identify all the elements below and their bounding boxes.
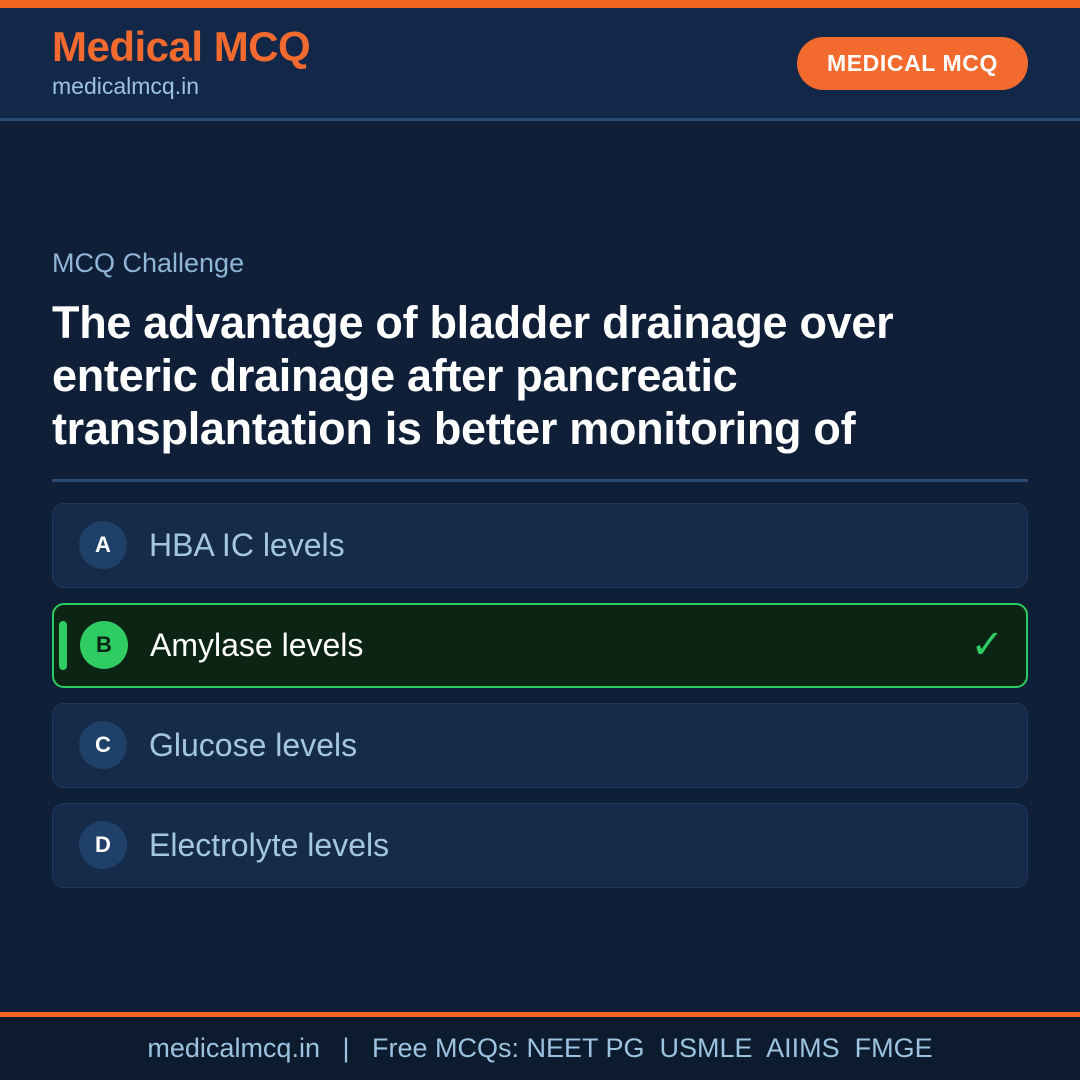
main-content: MCQ Challenge The advantage of bladder d… (0, 121, 1080, 1012)
option-b-letter: B (80, 621, 128, 669)
option-c-label: Glucose levels (149, 729, 357, 761)
page-footer: medicalmcq.in | Free MCQs: NEET PG USMLE… (0, 1012, 1080, 1080)
header-badge: MEDICAL MCQ (797, 37, 1028, 90)
option-a-label: HBA IC levels (149, 529, 345, 561)
question-divider (52, 479, 1028, 482)
option-c[interactable]: C Glucose levels ✓ (52, 703, 1028, 788)
option-d[interactable]: D Electrolyte levels ✓ (52, 803, 1028, 888)
question-text: The advantage of bladder drainage over e… (52, 296, 992, 455)
top-accent-bar (0, 0, 1080, 8)
brand-title: Medical MCQ (52, 25, 310, 69)
option-b-label: Amylase levels (150, 629, 363, 661)
option-b[interactable]: B Amylase levels ✓ (52, 603, 1028, 688)
option-a-letter: A (79, 521, 127, 569)
footer-text: medicalmcq.in | Free MCQs: NEET PG USMLE… (147, 1035, 932, 1062)
answer-options-list: A HBA IC levels ✓ B Amylase levels ✓ C G… (52, 503, 1028, 888)
option-c-letter: C (79, 721, 127, 769)
page-header: Medical MCQ medicalmcq.in MEDICAL MCQ (0, 8, 1080, 121)
correct-accent-bar (59, 621, 67, 670)
option-a[interactable]: A HBA IC levels ✓ (52, 503, 1028, 588)
option-d-letter: D (79, 821, 127, 869)
check-icon: ✓ (970, 625, 1004, 665)
option-d-label: Electrolyte levels (149, 829, 389, 861)
brand-subtitle: medicalmcq.in (52, 72, 310, 102)
brand: Medical MCQ medicalmcq.in (52, 25, 310, 102)
mcq-card: Medical MCQ medicalmcq.in MEDICAL MCQ MC… (0, 0, 1080, 1080)
kicker-label: MCQ Challenge (52, 249, 1028, 279)
